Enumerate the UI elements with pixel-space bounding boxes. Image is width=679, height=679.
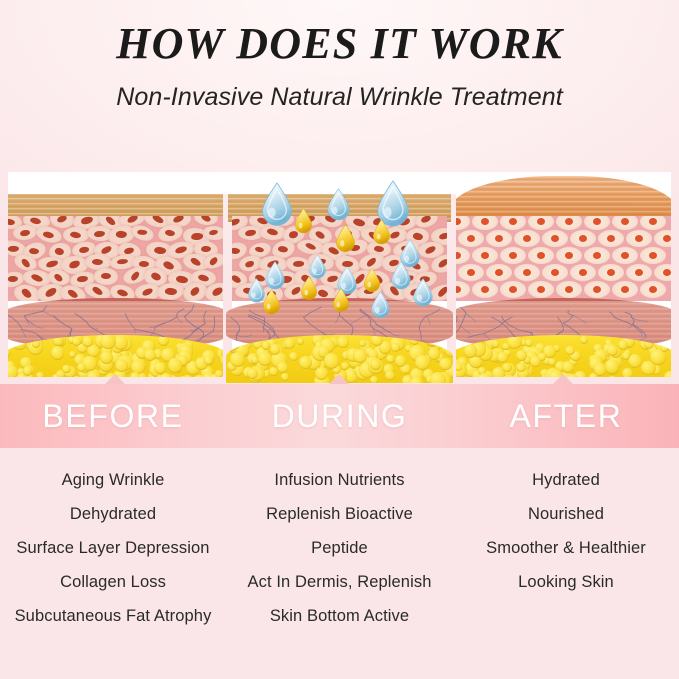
skin-cross-section [456, 172, 671, 377]
list-item: Subcutaneous Fat Atrophy [0, 608, 226, 625]
list-item: Replenish Bioactive [226, 506, 453, 523]
diagram-panels [0, 172, 679, 377]
skin-diagram-after [456, 172, 671, 377]
list-item: Hydrated [453, 472, 679, 489]
infographic-poster: HOW DOES IT WORK Non-Invasive Natural Wr… [0, 0, 679, 679]
stage-detail-lists: Aging WrinkleDehydratedSurface Layer Dep… [0, 448, 679, 679]
water-droplet-icon [260, 182, 294, 226]
list-item: Infusion Nutrients [226, 472, 453, 489]
serum-droplet-icon [363, 268, 381, 292]
serum-droplet-icon [300, 276, 318, 300]
epidermis-layer [456, 176, 671, 216]
page-title: HOW DOES IT WORK [0, 22, 679, 66]
cell-layer [8, 216, 223, 301]
cell-layer [456, 216, 671, 301]
water-droplet-icon [390, 261, 412, 290]
skin-diagram-before [8, 172, 223, 377]
serum-droplet-icon [294, 208, 313, 234]
serum-droplet-icon [335, 224, 356, 252]
list-item: Act In Dermis, Replenish [226, 574, 453, 591]
serum-droplet-icon [262, 289, 281, 315]
list-item: Surface Layer Depression [0, 540, 226, 557]
list-item: Peptide [226, 540, 453, 557]
subcutaneous-fat-layer [8, 335, 223, 377]
subcutaneous-fat-layer [456, 335, 671, 377]
page-subtitle: Non-Invasive Natural Wrinkle Treatment [0, 85, 679, 110]
list-item: Nourished [453, 506, 679, 523]
stage-label-during: DURING [226, 384, 453, 448]
stage-label-before: BEFORE [0, 384, 226, 448]
list-item: Collagen Loss [0, 574, 226, 591]
list-item: Skin Bottom Active [226, 608, 453, 625]
water-droplet-icon [412, 278, 434, 307]
skin-cross-section [8, 172, 223, 377]
water-droplet-icon [370, 291, 391, 318]
water-droplet-icon [326, 188, 351, 221]
list-item: Aging Wrinkle [0, 472, 226, 489]
water-droplet-icon [308, 254, 327, 279]
list-before: Aging WrinkleDehydratedSurface Layer Dep… [0, 472, 226, 642]
list-after: HydratedNourishedSmoother & HealthierLoo… [453, 472, 679, 608]
stage-label-after: AFTER [453, 384, 679, 448]
header: HOW DOES IT WORK Non-Invasive Natural Wr… [0, 0, 679, 110]
serum-droplet-icon [332, 288, 350, 312]
list-item: Looking Skin [453, 574, 679, 591]
water-droplet-icon [264, 261, 286, 290]
serum-droplet-icon [372, 219, 391, 245]
list-item: Dehydrated [0, 506, 226, 523]
stage-label-band: BEFORE DURING AFTER [0, 384, 679, 448]
list-item: Smoother & Healthier [453, 540, 679, 557]
epidermis-wrinkle-contour [8, 172, 223, 194]
skin-diagram-during [232, 172, 447, 377]
list-during: Infusion NutrientsReplenish BioactivePep… [226, 472, 453, 642]
